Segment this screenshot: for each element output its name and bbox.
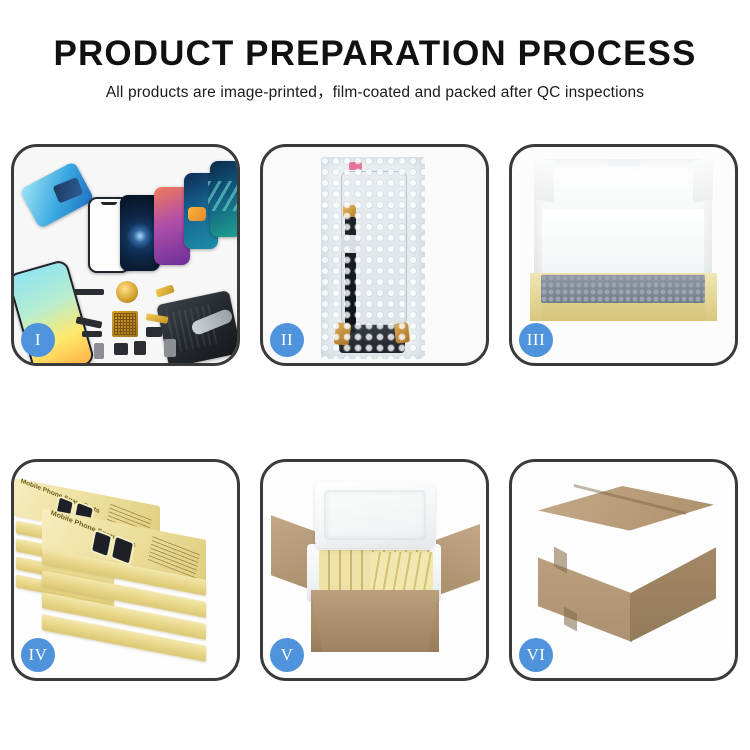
- process-grid: I II: [11, 144, 739, 681]
- box-lid-flap-left: [534, 157, 554, 203]
- process-step-5[interactable]: V: [260, 459, 489, 681]
- part-gold-flex: [146, 313, 169, 324]
- packed-yellow-boxes-row-b: [371, 552, 433, 592]
- part-gold-connector: [155, 284, 175, 297]
- header: PRODUCT PREPARATION PROCESS All products…: [0, 0, 750, 101]
- part-earpiece: [134, 341, 146, 355]
- foam-box-lid: [315, 482, 435, 548]
- process-step-4[interactable]: Mobile Phone Spare Parts Mobile Phone Sp…: [11, 459, 240, 681]
- box-thumbnail-2a: [92, 531, 111, 556]
- screen-burst-graphic: [125, 221, 155, 251]
- bubble-texture: [321, 157, 425, 359]
- carton-body: [311, 590, 439, 652]
- box-lid-notch: [607, 159, 641, 166]
- page-root: PRODUCT PREPARATION PROCESS All products…: [0, 0, 750, 750]
- carton-left-face: [538, 514, 632, 642]
- step-badge-4: IV: [21, 638, 55, 672]
- part-battery-strip: [74, 289, 104, 295]
- part-flex-cable-b: [82, 331, 102, 337]
- phone-green-display: [210, 161, 237, 237]
- tray-lip-right: [705, 273, 717, 321]
- carton-flap-right: [436, 524, 480, 596]
- step-badge-5: V: [270, 638, 304, 672]
- process-step-2[interactable]: II: [260, 144, 489, 366]
- part-camera-module: [146, 327, 162, 337]
- step-badge-6: VI: [519, 638, 553, 672]
- spare-parts-cluster: [72, 281, 202, 363]
- page-title: PRODUCT PREPARATION PROCESS: [0, 0, 750, 71]
- step-badge-3: III: [519, 323, 553, 357]
- step-badge-1: I: [21, 323, 55, 357]
- box-lid-flap-right: [693, 157, 713, 203]
- box-inner-wall: [542, 209, 704, 275]
- part-sim-tray: [164, 339, 176, 357]
- part-chip-grid: [112, 311, 138, 337]
- phone-blue-backplate: [19, 161, 94, 229]
- process-step-6[interactable]: VI: [509, 459, 738, 681]
- page-subtitle: All products are image-printed，film-coat…: [0, 71, 750, 101]
- process-step-3[interactable]: III: [509, 144, 738, 366]
- step-badge-2: II: [270, 323, 304, 357]
- bubble-wrap-bag: [321, 157, 425, 359]
- grey-foam-insert: [541, 275, 705, 303]
- part-vibrator: [114, 343, 128, 355]
- part-flex-cable-a: [76, 316, 103, 328]
- process-step-1[interactable]: I: [11, 144, 240, 366]
- part-speaker-coil: [116, 281, 138, 303]
- carton-right-face: [630, 514, 716, 642]
- part-small-bracket: [94, 343, 104, 359]
